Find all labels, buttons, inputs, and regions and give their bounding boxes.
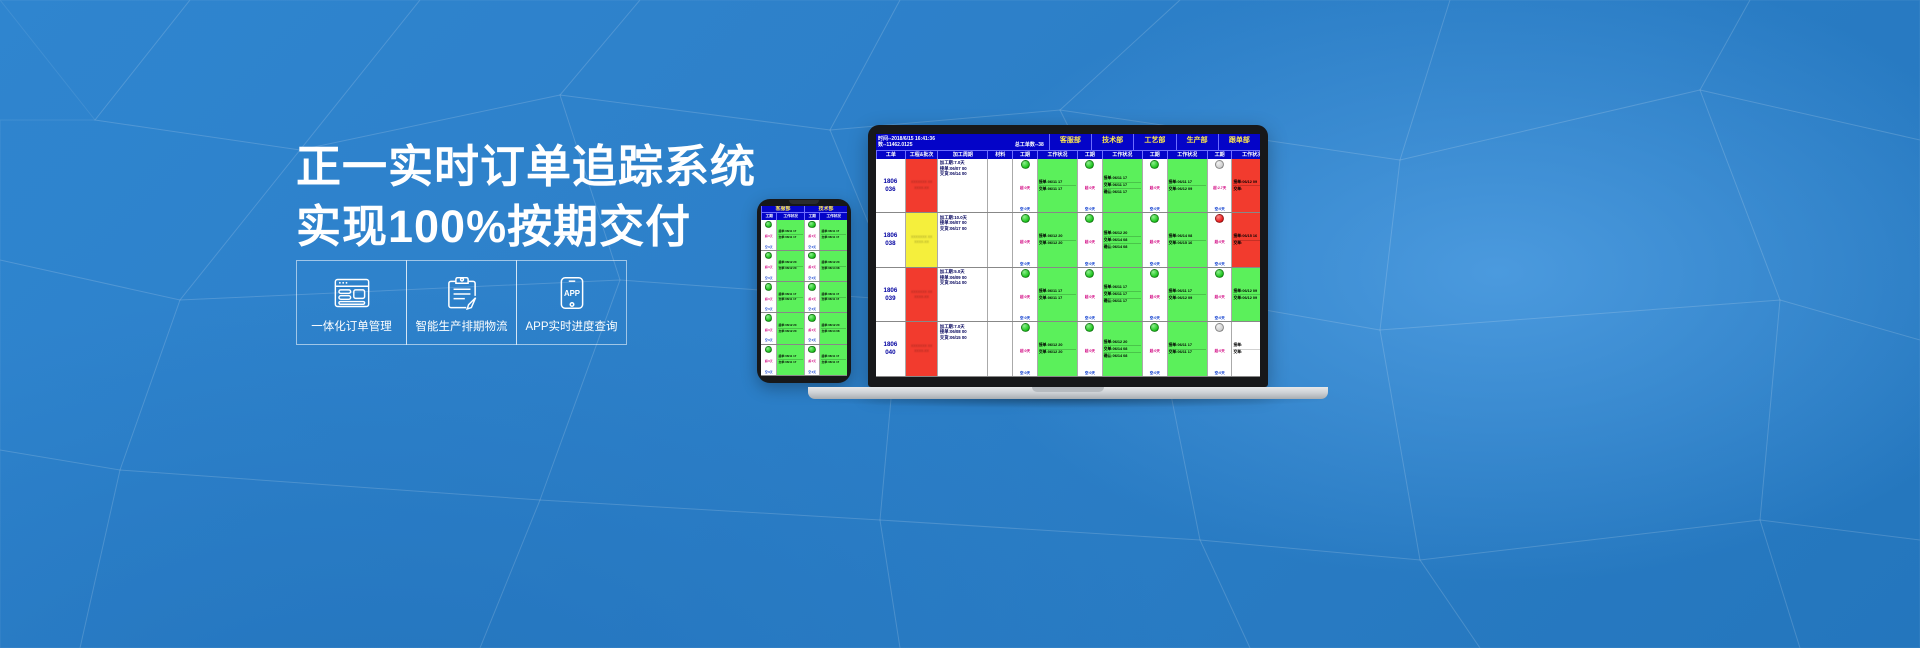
phone-column-subheader: 工作状况 bbox=[776, 212, 804, 219]
duration-cell: 超:0天空:0天 bbox=[1077, 159, 1102, 213]
work-order-cell: 1806036 bbox=[876, 159, 905, 213]
status-line: 确认:06/14 08 bbox=[1104, 353, 1141, 359]
work-status-cell: 接单:06/11 17交单:06/11 17确认:06/11 17 bbox=[1102, 268, 1142, 322]
status-indicator-green bbox=[1085, 160, 1094, 169]
cycle-line: 交货:06/14 00 bbox=[940, 171, 986, 176]
project-batch-text: XXXXXXX XX XXXX-XX bbox=[907, 344, 937, 354]
department-header: 跟单部 bbox=[1218, 134, 1260, 150]
duration-cell: 超:0天空:0天 bbox=[1142, 268, 1167, 322]
project-batch-text: XXXXXXX XX XXXX-XX bbox=[907, 290, 937, 300]
status-line: 接单: bbox=[1233, 343, 1260, 350]
phone-table-row[interactable]: 超:0天空:0天接单:06/11 17交单:06/11 17超:0天空:0天接单… bbox=[761, 282, 847, 313]
feature-label: 智能生产排期物流 bbox=[416, 318, 508, 334]
phone-idle-badge: 空:0天 bbox=[808, 339, 816, 342]
phone-work-status-cell: 接单:06/11 17交单:06/11 17 bbox=[819, 345, 847, 375]
status-line: 确认:06/14 08 bbox=[1104, 244, 1141, 250]
phone-status-line: 交单:06/11 17 bbox=[821, 235, 846, 240]
phone-status-indicator-green bbox=[808, 283, 816, 291]
status-indicator-green bbox=[1150, 214, 1159, 223]
work-order-prefix: 1806 bbox=[884, 178, 898, 186]
status-indicator-green bbox=[1085, 214, 1094, 223]
phone-idle-badge: 空:0天 bbox=[765, 371, 773, 374]
status-line: 交单:06/12 20 bbox=[1039, 350, 1076, 356]
department-header: 技术部 bbox=[1091, 134, 1133, 150]
idle-badge: 空:0天 bbox=[1085, 316, 1095, 320]
overtime-badge: 超:0天 bbox=[1085, 295, 1095, 299]
phone-table-row[interactable]: 超:0天空:0天接单:06/12 20交单:06/12 20超:0天空:0天接单… bbox=[761, 313, 847, 344]
svg-text:APP: APP bbox=[563, 289, 579, 298]
laptop-shadow bbox=[808, 399, 1328, 408]
overtime-badge: 超:2.7天 bbox=[1213, 186, 1226, 190]
status-line: 交单:06/11 17 bbox=[1104, 292, 1141, 299]
processing-cycle-cell: 加工期:10.0天接单:06/07 00交货:06/17 00 bbox=[937, 213, 987, 267]
status-indicator-green bbox=[1150, 269, 1159, 278]
phone-status-indicator-green bbox=[765, 252, 773, 260]
status-indicator-green bbox=[1085, 323, 1094, 332]
status-line: 接单:06/15 16 bbox=[1233, 234, 1260, 241]
column-subheader: 工作状况 bbox=[1102, 150, 1142, 159]
phone-dashboard: 客服部技术部 工期工作状况工期工作状况 超:0天空:0天接单:06/11 17交… bbox=[761, 206, 847, 376]
work-order-cell: 1806038 bbox=[876, 213, 905, 267]
project-batch-text: XXXXXXX XX XXXX-XX bbox=[907, 235, 937, 245]
status-line: 接单:06/11 17 bbox=[1104, 176, 1141, 183]
phone-overtime-badge: 超:0天 bbox=[808, 298, 816, 301]
status-line: 接单:06/12 09 bbox=[1233, 288, 1260, 295]
overtime-badge: 超:0天 bbox=[1150, 295, 1160, 299]
work-status-cell: 接单:06/11 17交单:06/11 17 bbox=[1167, 322, 1207, 376]
table-row[interactable]: 1806036XXXXXXX XX XXXX-XX加工期:7.0天接单:06/0… bbox=[876, 159, 1260, 214]
duration-cell: 超:0天空:0天 bbox=[1142, 159, 1167, 213]
status-indicator-green bbox=[1150, 323, 1159, 332]
phone-column-subheader: 工期 bbox=[804, 212, 819, 219]
duration-cell: 超:0天空:0天 bbox=[1142, 322, 1167, 376]
column-subheader: 工作状况 bbox=[1167, 150, 1207, 159]
idle-badge: 空:0天 bbox=[1150, 371, 1160, 375]
phone-status-line: 交单:06/11 17 bbox=[821, 298, 846, 303]
work-status-cell: 接单:06/12 20交单:06/14 08确认:06/14 08 bbox=[1102, 213, 1142, 267]
phone-screen: 客服部技术部 工期工作状况工期工作状况 超:0天空:0天接单:06/11 17交… bbox=[761, 206, 847, 376]
work-order-suffix: 039 bbox=[885, 295, 895, 303]
duration-cell: 超:0天空:0天 bbox=[1077, 322, 1102, 376]
phone-work-status-cell: 接单:06/11 17交单:06/11 17 bbox=[819, 220, 847, 250]
status-line: 交单: bbox=[1233, 241, 1260, 247]
phone-body: 客服部技术部 工期工作状况工期工作状况 超:0天空:0天接单:06/11 17交… bbox=[757, 199, 851, 383]
phone-idle-badge: 空:0天 bbox=[808, 371, 816, 374]
status-line: 接单:06/11 17 bbox=[1039, 288, 1076, 295]
work-order-prefix: 1806 bbox=[884, 232, 898, 240]
overtime-badge: 超:0天 bbox=[1020, 295, 1030, 299]
overtime-badge: 超:0天 bbox=[1215, 349, 1225, 353]
duration-cell: 超:0天空:0天 bbox=[1077, 213, 1102, 267]
status-line: 接单:06/11 17 bbox=[1169, 288, 1206, 295]
work-order-cell: 1806040 bbox=[876, 322, 905, 376]
status-line: 交单:06/12 20 bbox=[1039, 241, 1076, 247]
phone-idle-badge: 空:0天 bbox=[808, 246, 816, 249]
status-line: 交单:06/11 17 bbox=[1039, 295, 1076, 301]
phone-status-line: 交单:06/11 17 bbox=[778, 298, 803, 303]
feature-item-smart-scheduling[interactable]: 智能生产排期物流 bbox=[406, 260, 517, 345]
phone-duration-cell: 超:0天空:0天 bbox=[804, 282, 819, 312]
status-line: 接单:06/11 17 bbox=[1039, 179, 1076, 186]
idle-badge: 空:0天 bbox=[1085, 207, 1095, 211]
phone-column-subheader: 工作状况 bbox=[819, 212, 847, 219]
column-header-row: 工单工程&批次加工周期材料工期工作状况工期工作状况工期工作状况工期工作状况工期工… bbox=[876, 150, 1260, 159]
overtime-badge: 超:0天 bbox=[1020, 186, 1030, 190]
column-subheader: 工期 bbox=[1142, 150, 1167, 159]
idle-badge: 空:0天 bbox=[1215, 371, 1225, 375]
status-indicator-green bbox=[1021, 214, 1030, 223]
status-indicator-green bbox=[1021, 323, 1030, 332]
status-line: 接单:06/12 20 bbox=[1104, 230, 1141, 237]
phone-status-indicator-green bbox=[765, 314, 773, 322]
status-indicator-red bbox=[1215, 214, 1224, 223]
dashboard-count: 数--11462.0125 bbox=[878, 142, 912, 148]
duration-cell: 超:0天空:0天 bbox=[1077, 268, 1102, 322]
work-status-cell: 接单:06/15 16交单: bbox=[1231, 213, 1260, 267]
status-line: 交单:06/15 16 bbox=[1169, 241, 1206, 247]
overtime-badge: 超:0天 bbox=[1150, 240, 1160, 244]
phone-duration-cell: 超:0天空:0天 bbox=[804, 345, 819, 375]
work-status-cell: 接单:交单: bbox=[1231, 322, 1260, 376]
work-order-prefix: 1806 bbox=[884, 341, 898, 349]
phone-mockup: 客服部技术部 工期工作状况工期工作状况 超:0天空:0天接单:06/11 17交… bbox=[757, 199, 851, 383]
headline-block: 正一实时订单追踪系统 实现100%按期交付 bbox=[296, 138, 716, 255]
status-line: 接单:06/12 20 bbox=[1039, 343, 1076, 350]
phone-overtime-badge: 超:0天 bbox=[808, 266, 816, 269]
work-order-cell: 1806039 bbox=[876, 268, 905, 322]
phone-status-line: 交单:06/14 08 bbox=[821, 329, 846, 334]
status-line: 确认:06/11 17 bbox=[1104, 299, 1141, 305]
overtime-badge: 超:0天 bbox=[1215, 295, 1225, 299]
column-header: 工程&批次 bbox=[905, 150, 938, 159]
idle-badge: 空:0天 bbox=[1215, 262, 1225, 266]
work-status-cell: 接单:06/12 20交单:06/14 08确认:06/14 08 bbox=[1102, 322, 1142, 376]
overtime-badge: 超:0天 bbox=[1020, 240, 1030, 244]
project-batch-cell: XXXXXXX XX XXXX-XX bbox=[905, 213, 938, 267]
phone-overtime-badge: 超:0天 bbox=[808, 329, 816, 332]
duration-cell: 超:0天空:0天 bbox=[1207, 268, 1232, 322]
laptop-base bbox=[808, 387, 1328, 399]
idle-badge: 空:0天 bbox=[1020, 207, 1030, 211]
phone-status-line: 交单:06/12 20 bbox=[778, 329, 803, 334]
phone-table-body: 超:0天空:0天接单:06/11 17交单:06/11 17超:0天空:0天接单… bbox=[761, 220, 847, 376]
phone-work-status-cell: 接单:06/12 20交单:06/14 08 bbox=[819, 313, 847, 343]
overtime-badge: 超:0天 bbox=[1215, 240, 1225, 244]
phone-column-subheader: 工期 bbox=[761, 212, 776, 219]
clipboard-edit-icon bbox=[447, 275, 477, 311]
duration-cell: 超:2.7天空:0天 bbox=[1207, 159, 1232, 213]
material-cell bbox=[987, 268, 1012, 322]
column-subheader: 工作状况 bbox=[1231, 150, 1260, 159]
status-line: 接单:06/12 20 bbox=[1104, 339, 1141, 346]
dashboard-top-bar: 时间--2018/6/15 16:41:36 数--11462.0125 总工单… bbox=[876, 134, 1260, 150]
dashboard-total-orders: 总工单数--38 bbox=[1015, 142, 1044, 148]
phone-duration-cell: 超:0天空:0天 bbox=[761, 313, 776, 343]
status-indicator-green bbox=[1085, 269, 1094, 278]
overtime-badge: 超:0天 bbox=[1085, 186, 1095, 190]
phone-duration-cell: 超:0天空:0天 bbox=[804, 251, 819, 281]
work-status-cell: 接单:06/12 09交单:06/12 09 bbox=[1231, 268, 1260, 322]
phone-work-status-cell: 接单:06/12 20交单:06/12 20 bbox=[776, 251, 804, 281]
phone-idle-badge: 空:0天 bbox=[765, 277, 773, 280]
phone-overtime-badge: 超:0天 bbox=[765, 298, 773, 301]
phone-status-indicator-green bbox=[765, 346, 773, 354]
cycle-line: 交货:06/15 00 bbox=[940, 335, 986, 340]
phone-overtime-badge: 超:0天 bbox=[765, 360, 773, 363]
phone-idle-badge: 空:0天 bbox=[765, 308, 773, 311]
project-batch-cell: XXXXXXX XX XXXX-XX bbox=[905, 159, 938, 213]
phone-overtime-badge: 超:0天 bbox=[765, 266, 773, 269]
phone-work-status-cell: 接单:06/12 20交单:06/14 08 bbox=[819, 251, 847, 281]
duration-cell: 超:0天空:0天 bbox=[1012, 268, 1037, 322]
duration-cell: 超:0天空:0天 bbox=[1012, 159, 1037, 213]
status-line: 交单: bbox=[1233, 350, 1260, 356]
phone-overtime-badge: 超:0天 bbox=[808, 235, 816, 238]
work-status-cell: 接单:06/12 20交单:06/12 20 bbox=[1037, 213, 1077, 267]
phone-work-status-cell: 接单:06/11 17交单:06/11 17 bbox=[776, 345, 804, 375]
status-line: 交单:06/11 17 bbox=[1169, 350, 1206, 356]
project-batch-cell: XXXXXXX XX XXXX-XX bbox=[905, 322, 938, 376]
status-indicator-gray bbox=[1215, 160, 1224, 169]
idle-badge: 空:0天 bbox=[1020, 262, 1030, 266]
department-header: 客服部 bbox=[1049, 134, 1091, 150]
phone-idle-badge: 空:0天 bbox=[808, 308, 816, 311]
laptop-mockup: 时间--2018/6/15 16:41:36 数--11462.0125 总工单… bbox=[861, 125, 1321, 425]
dashboard-meta: 时间--2018/6/15 16:41:36 数--11462.0125 总工单… bbox=[876, 134, 1049, 150]
overtime-badge: 超:0天 bbox=[1085, 349, 1095, 353]
phone-status-line: 交单:06/11 17 bbox=[778, 235, 803, 240]
laptop-trackpad-notch bbox=[1032, 387, 1104, 392]
phone-status-indicator-green bbox=[765, 283, 773, 291]
laptop-lid: 时间--2018/6/15 16:41:36 数--11462.0125 总工单… bbox=[868, 125, 1268, 387]
table-body: 1806036XXXXXXX XX XXXX-XX加工期:7.0天接单:06/0… bbox=[876, 159, 1260, 377]
phone-status-line: 交单:06/11 17 bbox=[778, 360, 803, 365]
status-line: 确认:06/11 17 bbox=[1104, 189, 1141, 195]
order-window-icon bbox=[334, 275, 370, 311]
department-header: 工艺部 bbox=[1133, 134, 1175, 150]
overtime-badge: 超:0天 bbox=[1150, 349, 1160, 353]
phone-status-indicator-green bbox=[808, 314, 816, 322]
status-line: 接单:06/11 17 bbox=[1169, 343, 1206, 350]
phone-work-status-cell: 接单:06/11 17交单:06/11 17 bbox=[819, 282, 847, 312]
status-line: 接单:06/14 08 bbox=[1169, 234, 1206, 241]
phone-idle-badge: 空:0天 bbox=[808, 277, 816, 280]
phone-duration-cell: 超:0天空:0天 bbox=[761, 220, 776, 250]
feature-label: 一体化订单管理 bbox=[311, 318, 392, 334]
phone-duration-cell: 超:0天空:0天 bbox=[804, 313, 819, 343]
column-header: 材料 bbox=[987, 150, 1012, 159]
work-order-suffix: 036 bbox=[885, 186, 895, 194]
work-order-suffix: 038 bbox=[885, 240, 895, 248]
processing-cycle-cell: 加工期:7.0天接单:06/08 00交货:06/15 00 bbox=[937, 322, 987, 376]
phone-idle-badge: 空:0天 bbox=[765, 246, 773, 249]
work-status-cell: 接单:06/12 09交单: bbox=[1231, 159, 1260, 213]
department-header-row: 客服部技术部工艺部生产部跟单部 bbox=[1049, 134, 1260, 150]
status-indicator-green bbox=[1150, 160, 1159, 169]
phone-overtime-badge: 超:0天 bbox=[808, 360, 816, 363]
project-batch-text: XXXXXXX XX XXXX-XX bbox=[907, 180, 937, 190]
overtime-badge: 超:0天 bbox=[1150, 186, 1160, 190]
phone-status-line: 交单:06/11 17 bbox=[821, 360, 846, 365]
duration-cell: 超:0天空:0天 bbox=[1207, 322, 1232, 376]
feature-item-order-management[interactable]: 一体化订单管理 bbox=[296, 260, 407, 345]
overtime-badge: 超:0天 bbox=[1020, 349, 1030, 353]
mobile-app-icon: APP bbox=[560, 275, 584, 311]
duration-cell: 超:0天空:0天 bbox=[1142, 213, 1167, 267]
duration-cell: 超:0天空:0天 bbox=[1012, 322, 1037, 376]
phone-table-row[interactable]: 超:0天空:0天接单:06/12 20交单:06/12 20超:0天空:0天接单… bbox=[761, 251, 847, 282]
project-batch-cell: XXXXXXX XX XXXX-XX bbox=[905, 268, 938, 322]
status-line: 接单:06/11 17 bbox=[1104, 285, 1141, 292]
status-line: 接单:06/12 20 bbox=[1039, 234, 1076, 241]
idle-badge: 空:0天 bbox=[1020, 371, 1030, 375]
status-line: 交单:06/11 17 bbox=[1039, 186, 1076, 192]
idle-badge: 空:0天 bbox=[1020, 316, 1030, 320]
phone-idle-badge: 空:0天 bbox=[765, 339, 773, 342]
phone-overtime-badge: 超:0天 bbox=[765, 329, 773, 332]
idle-badge: 空:0天 bbox=[1215, 207, 1225, 211]
idle-badge: 空:0天 bbox=[1215, 316, 1225, 320]
phone-status-indicator-green bbox=[808, 252, 816, 260]
phone-duration-cell: 超:0天空:0天 bbox=[761, 251, 776, 281]
status-line: 交单:06/14 08 bbox=[1104, 346, 1141, 353]
processing-cycle-cell: 加工期:7.0天接单:06/07 00交货:06/14 00 bbox=[937, 159, 987, 213]
status-indicator-gray bbox=[1215, 323, 1224, 332]
work-status-cell: 接单:06/11 17交单:06/11 17 bbox=[1037, 159, 1077, 213]
headline-line-2: 实现100%按期交付 bbox=[296, 198, 716, 256]
phone-work-status-cell: 接单:06/11 17交单:06/11 17 bbox=[776, 220, 804, 250]
duration-cell: 超:0天空:0天 bbox=[1207, 213, 1232, 267]
column-header: 工单 bbox=[876, 150, 905, 159]
column-subheader: 工期 bbox=[1012, 150, 1037, 159]
duration-cell: 超:0天空:0天 bbox=[1012, 213, 1037, 267]
phone-table-row[interactable]: 超:0天空:0天接单:06/11 17交单:06/11 17超:0天空:0天接单… bbox=[761, 345, 847, 376]
overtime-badge: 超:0天 bbox=[1085, 240, 1095, 244]
column-subheader: 工作状况 bbox=[1037, 150, 1077, 159]
status-line: 交单:06/14 08 bbox=[1104, 237, 1141, 244]
order-tracking-dashboard: 时间--2018/6/15 16:41:36 数--11462.0125 总工单… bbox=[876, 134, 1260, 377]
status-line: 交单: bbox=[1233, 186, 1260, 192]
feature-list: 一体化订单管理 智能生产排期物流 APP AP bbox=[296, 260, 627, 345]
phone-status-line: 交单:06/12 20 bbox=[778, 267, 803, 272]
idle-badge: 空:0天 bbox=[1150, 316, 1160, 320]
work-status-cell: 接单:06/11 17交单:06/12 09 bbox=[1167, 159, 1207, 213]
work-status-cell: 接单:06/11 17交单:06/12 09 bbox=[1167, 268, 1207, 322]
phone-status-line: 交单:06/14 08 bbox=[821, 267, 846, 272]
phone-notch bbox=[789, 200, 819, 204]
table-row[interactable]: 1806038XXXXXXX XX XXXX-XX加工期:10.0天接单:06/… bbox=[876, 213, 1260, 268]
status-line: 接单:06/12 09 bbox=[1233, 179, 1260, 186]
department-header: 生产部 bbox=[1176, 134, 1218, 150]
material-cell bbox=[987, 159, 1012, 213]
cycle-line: 交货:06/17 00 bbox=[940, 226, 986, 231]
phone-status-indicator-green bbox=[765, 221, 773, 229]
laptop-screen: 时间--2018/6/15 16:41:36 数--11462.0125 总工单… bbox=[876, 134, 1260, 377]
phone-table-row[interactable]: 超:0天空:0天接单:06/11 17交单:06/11 17超:0天空:0天接单… bbox=[761, 220, 847, 251]
phone-duration-cell: 超:0天空:0天 bbox=[804, 220, 819, 250]
status-indicator-green bbox=[1021, 160, 1030, 169]
idle-badge: 空:0天 bbox=[1150, 262, 1160, 266]
column-subheader: 工期 bbox=[1077, 150, 1102, 159]
table-row[interactable]: 1806040XXXXXXX XX XXXX-XX加工期:7.0天接单:06/0… bbox=[876, 322, 1260, 377]
idle-badge: 空:0天 bbox=[1150, 207, 1160, 211]
feature-label: APP实时进度查询 bbox=[525, 318, 617, 334]
work-order-suffix: 040 bbox=[885, 349, 895, 357]
phone-overtime-badge: 超:0天 bbox=[765, 235, 773, 238]
material-cell bbox=[987, 322, 1012, 376]
work-status-cell: 接单:06/14 08交单:06/15 16 bbox=[1167, 213, 1207, 267]
work-order-prefix: 1806 bbox=[884, 287, 898, 295]
work-status-cell: 接单:06/11 17交单:06/11 17 bbox=[1037, 268, 1077, 322]
phone-work-status-cell: 接单:06/11 17交单:06/11 17 bbox=[776, 282, 804, 312]
material-cell bbox=[987, 213, 1012, 267]
headline-line-1: 正一实时订单追踪系统 bbox=[296, 138, 716, 196]
feature-item-app-tracking[interactable]: APP APP实时进度查询 bbox=[516, 260, 627, 345]
status-line: 接单:06/11 17 bbox=[1169, 179, 1206, 186]
idle-badge: 空:0天 bbox=[1085, 262, 1095, 266]
phone-duration-cell: 超:0天空:0天 bbox=[761, 282, 776, 312]
status-line: 交单:06/12 09 bbox=[1169, 186, 1206, 192]
phone-duration-cell: 超:0天空:0天 bbox=[761, 345, 776, 375]
status-line: 交单:06/12 09 bbox=[1233, 295, 1260, 301]
idle-badge: 空:0天 bbox=[1085, 371, 1095, 375]
table-row[interactable]: 1806039XXXXXXX XX XXXX-XX加工期:5.0天接单:06/0… bbox=[876, 268, 1260, 323]
phone-status-indicator-green bbox=[808, 221, 816, 229]
phone-work-status-cell: 接单:06/12 20交单:06/12 20 bbox=[776, 313, 804, 343]
work-status-cell: 接单:06/12 20交单:06/12 20 bbox=[1037, 322, 1077, 376]
status-line: 交单:06/11 17 bbox=[1104, 183, 1141, 190]
status-indicator-green bbox=[1215, 269, 1224, 278]
status-line: 交单:06/12 09 bbox=[1169, 295, 1206, 301]
work-status-cell: 接单:06/11 17交单:06/11 17确认:06/11 17 bbox=[1102, 159, 1142, 213]
column-header: 加工周期 bbox=[937, 150, 987, 159]
processing-cycle-cell: 加工期:5.0天接单:06/09 00交货:06/14 00 bbox=[937, 268, 987, 322]
phone-subheader-row: 工期工作状况工期工作状况 bbox=[761, 212, 847, 219]
phone-status-indicator-green bbox=[808, 346, 816, 354]
status-indicator-green bbox=[1021, 269, 1030, 278]
column-subheader: 工期 bbox=[1207, 150, 1232, 159]
cycle-line: 交货:06/14 00 bbox=[940, 280, 986, 285]
